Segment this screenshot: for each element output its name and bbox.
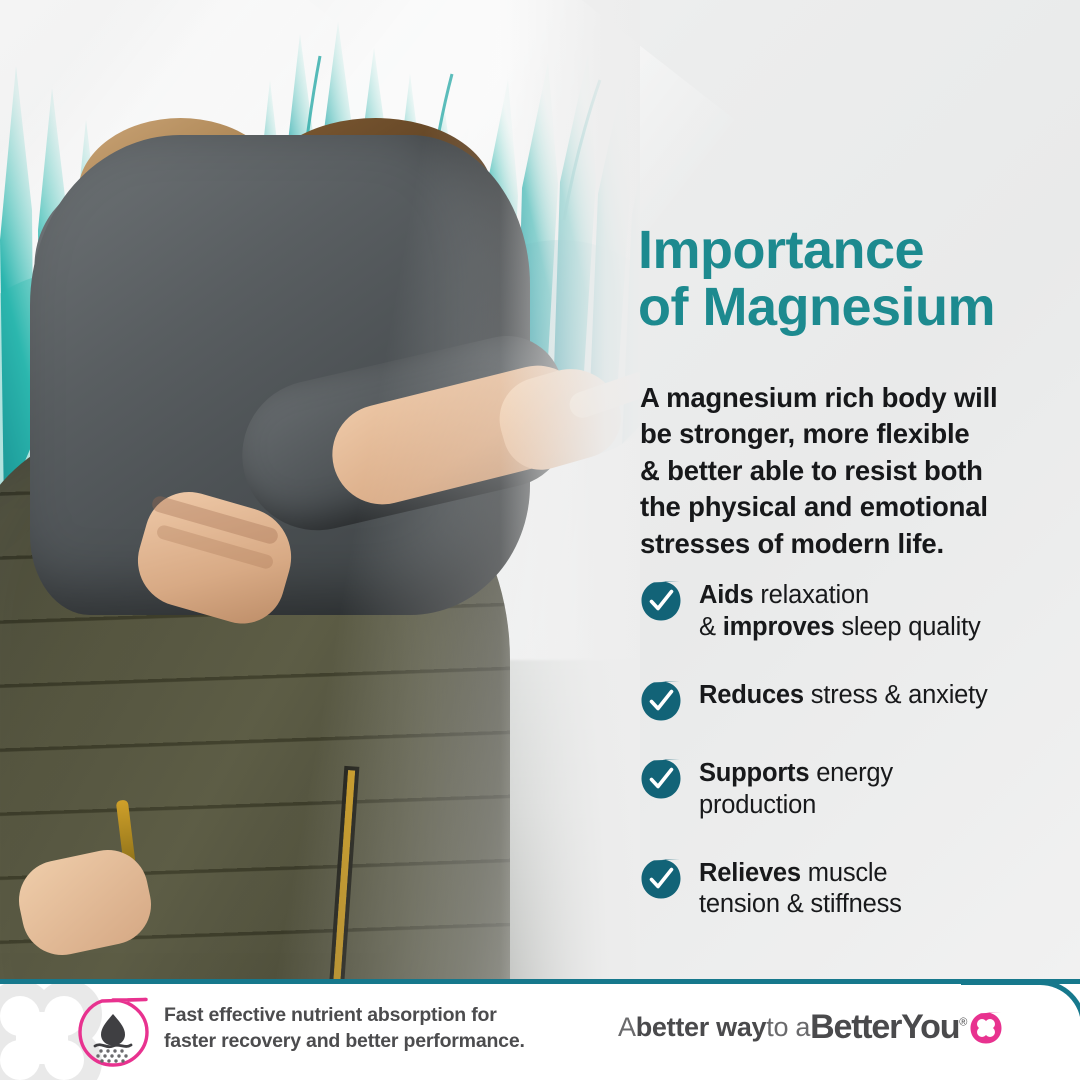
brand-name: BetterYou	[810, 1008, 959, 1046]
list-item-label: Aids relaxation & improves sleep quality	[699, 578, 981, 644]
lede-line-4: the physical and emotional	[640, 491, 988, 522]
benefit-line2-rest: production	[699, 791, 816, 819]
benefit-keyword: Reduces	[699, 681, 804, 709]
lede-line-3: & better able to resist both	[640, 455, 983, 486]
list-item-label: Relieves muscle tension & stiffness	[699, 856, 902, 922]
lede-line-5: stresses of modern life.	[640, 528, 944, 559]
benefit-rest: relaxation	[753, 581, 868, 609]
benefit-keyword: Aids	[699, 581, 753, 609]
benefit-keyword: Relieves	[699, 859, 801, 887]
claim-line-1: Fast effective nutrient absorption for	[164, 1004, 497, 1026]
photo-subject	[0, 0, 640, 980]
claim-line-2: faster recovery and better performance.	[164, 1030, 525, 1052]
list-item-label: Reduces stress & anxiety	[699, 678, 988, 712]
infographic-canvas: Importance of Magnesium A magnesium rich…	[0, 0, 1080, 1080]
betteryou-droplet-logo	[969, 1011, 1003, 1045]
benefit-keyword-2: improves	[723, 613, 835, 641]
list-item: Aids relaxation & improves sleep quality	[640, 578, 1080, 644]
benefit-rest: muscle	[801, 859, 887, 887]
tagline-part-2: better way	[636, 1012, 767, 1043]
absorption-claim: Fast effective nutrient absorption for f…	[164, 1002, 594, 1055]
brand-wordmark: BetterYou®	[810, 1008, 966, 1047]
tagline-part-3: to a	[766, 1012, 810, 1043]
footer-bar: Fast effective nutrient absorption for f…	[0, 984, 1080, 1080]
list-item: Relieves muscle tension & stiffness	[640, 856, 1080, 922]
hero-photo	[0, 0, 640, 980]
title-line-2: of Magnesium	[638, 277, 995, 337]
list-item-label: Supports energy production	[699, 756, 893, 822]
benefit-keyword: Supports	[699, 759, 809, 787]
check-droplet-icon	[640, 758, 682, 800]
check-droplet-icon	[640, 580, 682, 622]
lede-line-2: be stronger, more flexible	[640, 418, 970, 449]
page-title: Importance of Magnesium	[638, 222, 1078, 336]
registered-mark: ®	[959, 1017, 966, 1029]
lede-line-1: A magnesium rich body will	[640, 382, 997, 413]
benefits-list: Aids relaxation & improves sleep quality…	[640, 578, 1080, 921]
check-droplet-icon	[640, 858, 682, 900]
check-droplet-icon	[640, 680, 682, 722]
list-item: Supports energy production	[640, 756, 1080, 822]
lede-paragraph: A magnesium rich body will be stronger, …	[640, 380, 1060, 563]
list-item: Reduces stress & anxiety	[640, 678, 1080, 722]
tagline-part-1: A	[618, 1012, 636, 1043]
benefit-line2-pre: &	[699, 613, 723, 641]
benefit-line2-rest: sleep quality	[834, 613, 980, 641]
benefit-rest: energy	[809, 759, 893, 787]
content-column: Importance of Magnesium A magnesium rich…	[636, 0, 1080, 980]
absorption-droplet-icon	[74, 996, 152, 1070]
benefit-rest: stress & anxiety	[804, 681, 988, 709]
brand-tagline: A better way to a BetterYou®	[618, 1008, 1003, 1047]
title-line-1: Importance	[638, 220, 924, 280]
benefit-line2-rest: tension & stiffness	[699, 890, 902, 918]
